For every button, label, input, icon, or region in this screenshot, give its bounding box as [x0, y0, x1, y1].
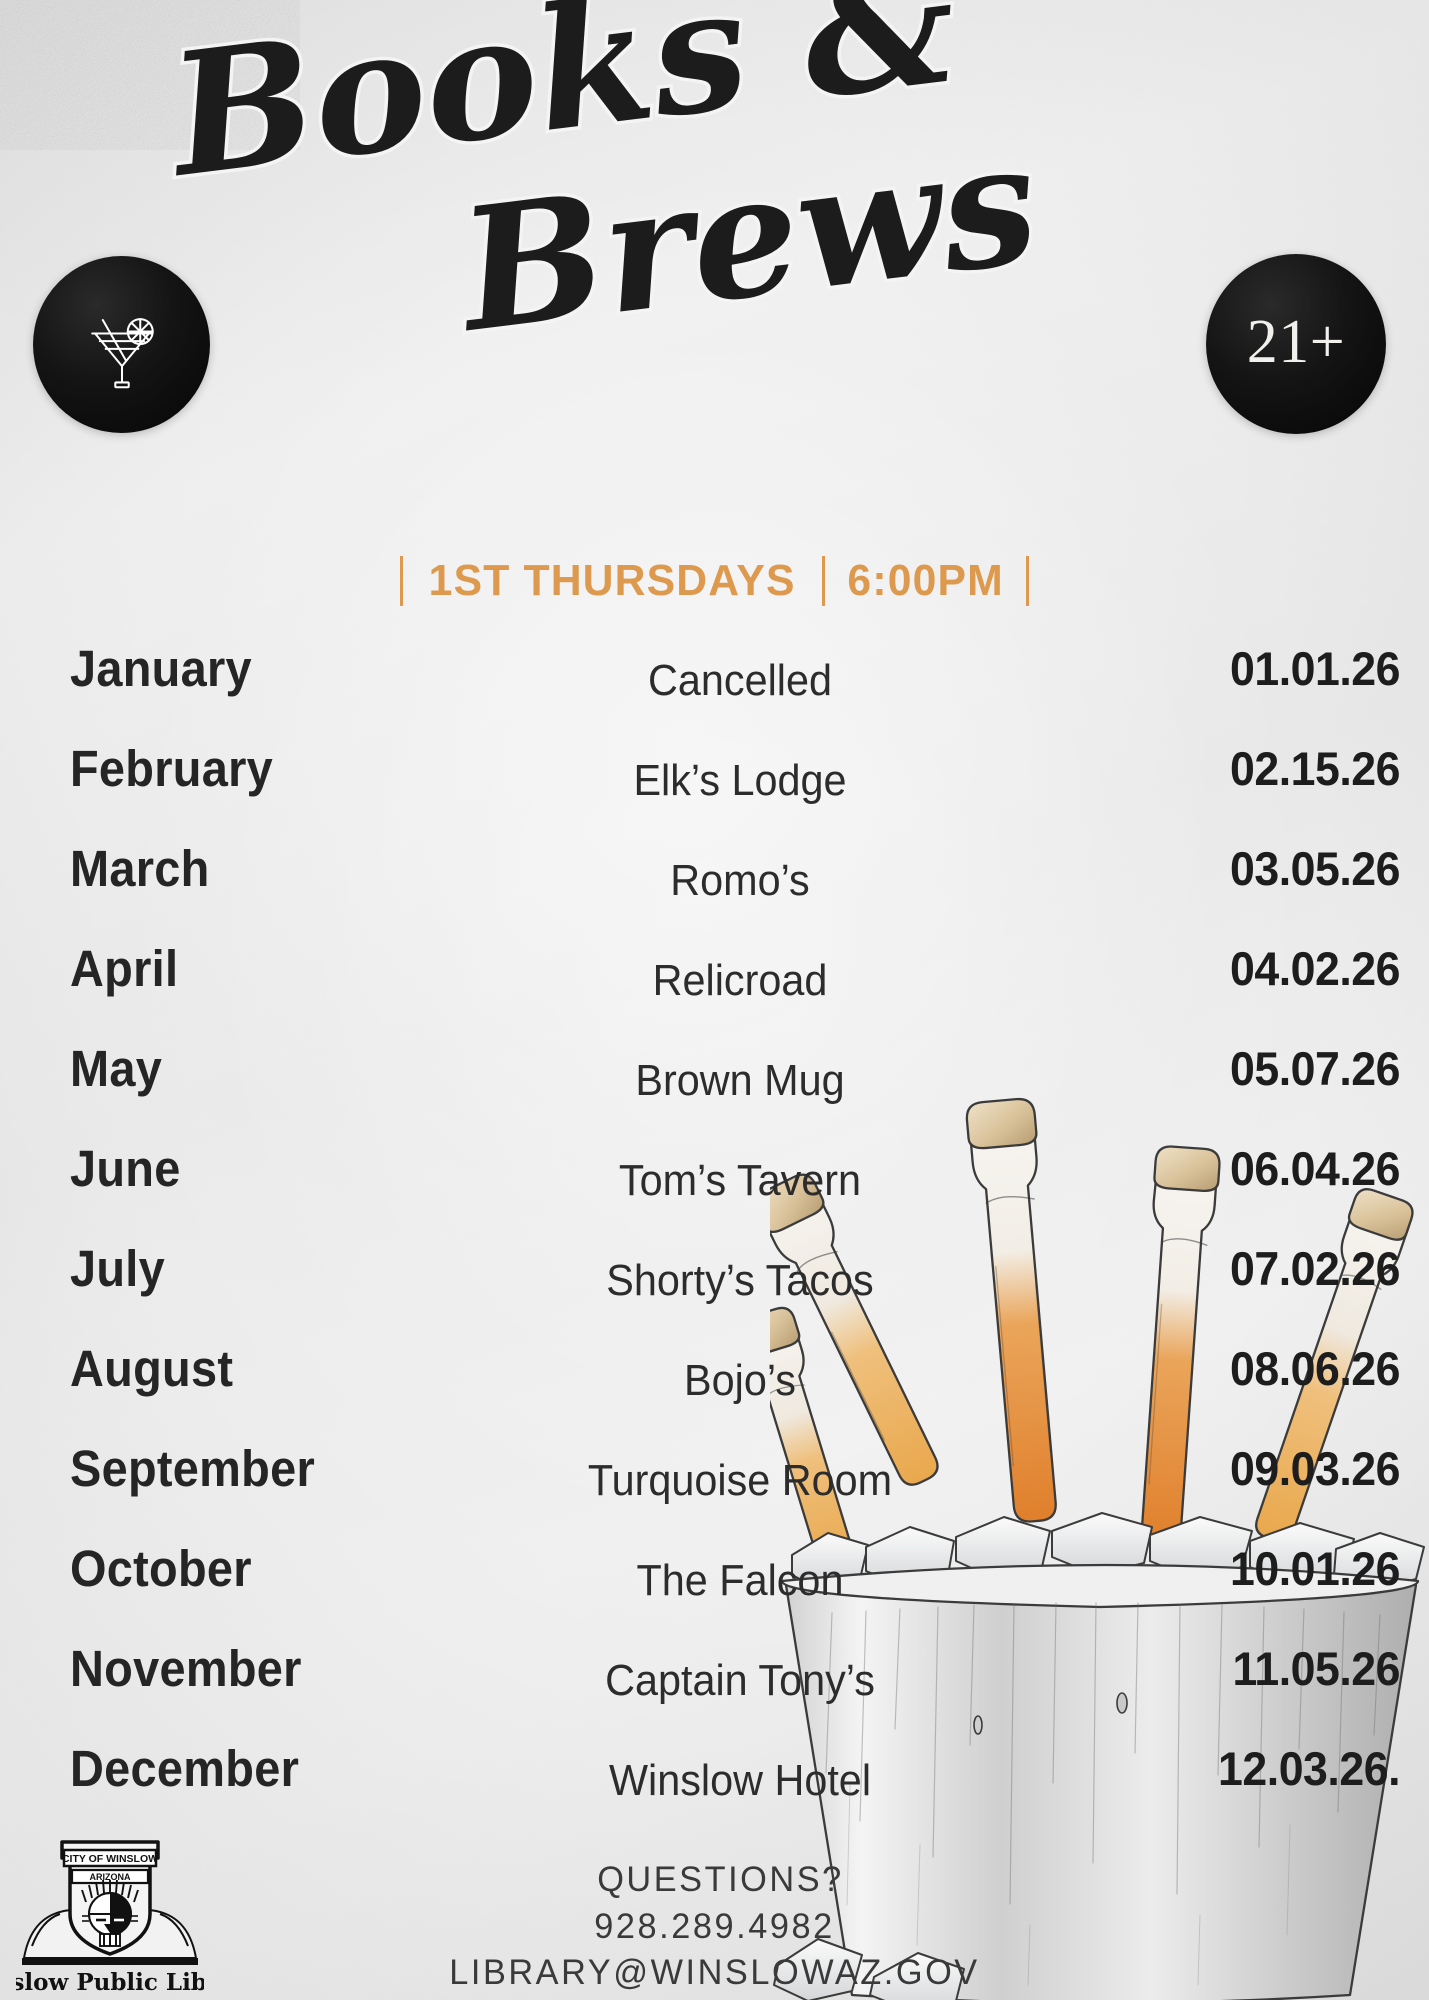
cocktail-badge [33, 256, 210, 433]
row-date: 11.05.26 [1020, 1641, 1400, 1696]
footer-phone[interactable]: 928.289.4982 [14, 1904, 1414, 1950]
footer-contact: QUESTIONS? 928.289.4982 LIBRARY@WINSLOWA… [0, 1857, 1429, 1996]
age-badge-label: 21+ [1247, 311, 1345, 373]
row-month: May [70, 1039, 447, 1098]
row-venue: Bojo’s [496, 1356, 985, 1406]
row-date: 03.05.26 [1020, 841, 1400, 896]
row-date: 12.03.26. [1020, 1741, 1400, 1796]
cocktail-glass-icon [74, 297, 170, 393]
row-month: February [70, 739, 447, 798]
table-row: October The Falcon 10.01.26 [0, 1518, 1429, 1618]
row-date: 10.01.26 [1020, 1541, 1400, 1596]
row-venue: Turquoise Room [496, 1456, 985, 1506]
logo-library-name: Winslow Public Library [16, 1969, 204, 1996]
row-venue: Winslow Hotel [496, 1756, 985, 1806]
row-month: December [70, 1739, 447, 1798]
row-month: June [70, 1139, 447, 1198]
row-venue: Captain Tony’s [496, 1656, 985, 1706]
row-venue: Romo’s [496, 856, 985, 906]
table-row: May Brown Mug 05.07.26 [0, 1018, 1429, 1118]
row-month: October [70, 1539, 447, 1598]
row-date: 08.06.26 [1020, 1341, 1400, 1396]
row-month: September [70, 1439, 447, 1498]
winslow-public-library-logo: CITY OF WINSLOW ARIZONA [16, 1828, 204, 1998]
table-row: February Elk’s Lodge 02.15.26 [0, 718, 1429, 818]
table-row: June Tom’s Tavern 06.04.26 [0, 1118, 1429, 1218]
paper-grain-highlight [0, 0, 300, 150]
row-date: 04.02.26 [1020, 941, 1400, 996]
row-date: 06.04.26 [1020, 1141, 1400, 1196]
subtitle-divider-left [400, 556, 403, 606]
footer-questions-label: QUESTIONS? [26, 1857, 1415, 1903]
table-row: March Romo’s 03.05.26 [0, 818, 1429, 918]
row-venue: Tom’s Tavern [496, 1156, 985, 1206]
age-restriction-badge: 21+ [1206, 254, 1386, 434]
poster-canvas: Books & Brews [0, 0, 1429, 2000]
table-row: July Shorty’s Tacos 07.02.26 [0, 1218, 1429, 1318]
row-venue: Relicroad [496, 956, 985, 1006]
paper-grain-texture [0, 0, 300, 150]
row-month: November [70, 1639, 447, 1698]
table-row: August Bojo’s 08.06.26 [0, 1318, 1429, 1418]
row-venue: Shorty’s Tacos [496, 1256, 985, 1306]
table-row: January Cancelled 01.01.26 [0, 618, 1429, 718]
table-row: April Relicroad 04.02.26 [0, 918, 1429, 1018]
row-month: July [70, 1239, 447, 1298]
subtitle-divider-mid [822, 556, 825, 606]
schedule-subtitle: 1ST THURSDAYS 6:00PM [0, 556, 1429, 606]
row-date: 01.01.26 [1020, 641, 1400, 696]
logo-crest-top: CITY OF WINSLOW [62, 1853, 158, 1865]
row-month: January [70, 639, 447, 698]
subtitle-time-label: 6:00PM [847, 556, 1003, 606]
subtitle-day-label: 1ST THURSDAYS [429, 556, 796, 606]
row-date: 09.03.26 [1020, 1441, 1400, 1496]
title-line-2: Brews [447, 103, 1047, 370]
row-venue: Brown Mug [496, 1056, 985, 1106]
row-venue: The Falcon [496, 1556, 985, 1606]
table-row: December Winslow Hotel 12.03.26. [0, 1718, 1429, 1818]
row-date: 02.15.26 [1020, 741, 1400, 796]
row-date: 05.07.26 [1020, 1041, 1400, 1096]
row-month: April [70, 939, 447, 998]
row-venue: Cancelled [496, 656, 985, 706]
row-venue: Elk’s Lodge [496, 756, 985, 806]
schedule-table: January Cancelled 01.01.26 February Elk’… [0, 618, 1429, 1818]
footer-email[interactable]: LIBRARY@WINSLOWAZ.GOV [14, 1950, 1414, 1996]
row-month: March [70, 839, 447, 898]
row-month: August [70, 1339, 447, 1398]
row-date: 07.02.26 [1020, 1241, 1400, 1296]
table-row: November Captain Tony’s 11.05.26 [0, 1618, 1429, 1718]
subtitle-divider-right [1026, 556, 1029, 606]
table-row: September Turquoise Room 09.03.26 [0, 1418, 1429, 1518]
title-line-1: Books & [157, 0, 966, 215]
